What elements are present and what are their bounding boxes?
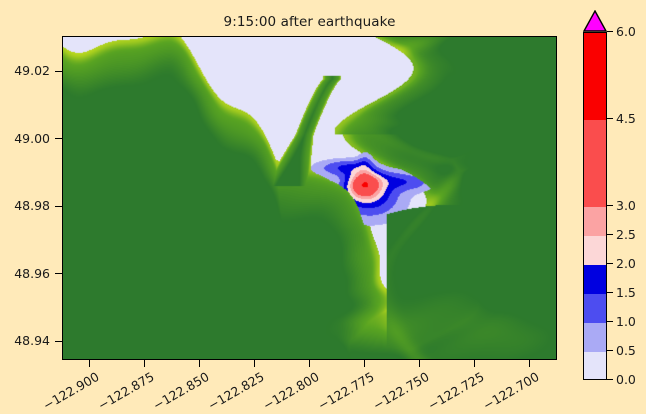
- colorbar-band: [584, 323, 606, 352]
- colorbar-over-arrow-icon: [583, 10, 607, 32]
- colorbar: [583, 10, 607, 380]
- x-tick-label: −122.875: [95, 369, 156, 413]
- colorbar-tick-label: 0.5: [616, 343, 636, 358]
- colorbar-band: [584, 236, 606, 265]
- colorbar-tick-label: 3.0: [616, 198, 636, 213]
- colorbar-tick-label: 1.5: [616, 285, 636, 300]
- x-tick-label: −122.825: [205, 369, 266, 413]
- colorbar-tick-label: 2.0: [616, 256, 636, 271]
- x-tick-mark: [199, 360, 200, 367]
- colorbar-tick-mark: [607, 263, 613, 264]
- x-tick-label: −122.700: [480, 369, 541, 413]
- x-tick-mark: [89, 360, 90, 367]
- y-tick-label: 48.96: [14, 266, 50, 281]
- x-tick-label: −122.850: [150, 369, 211, 413]
- x-tick-mark: [529, 360, 530, 367]
- colorbar-tick-mark: [607, 379, 613, 380]
- x-tick-label: −122.900: [40, 369, 101, 413]
- colorbar-tick-mark: [607, 234, 613, 235]
- colorbar-tick-mark: [607, 205, 613, 206]
- inundation-heatmap: [63, 37, 556, 359]
- colorbar-bands: [583, 32, 607, 380]
- matplotlib-figure: 9:15:00 after earthquake 49.0249.0048.98…: [0, 0, 646, 414]
- colorbar-tick-label: 0.0: [616, 372, 636, 387]
- colorbar-tick-label: 1.0: [616, 314, 636, 329]
- x-tick-mark: [364, 360, 365, 367]
- y-tick-mark: [55, 341, 62, 342]
- y-tick-label: 48.98: [14, 198, 50, 213]
- colorbar-tick-mark: [607, 350, 613, 351]
- colorbar-band: [584, 294, 606, 323]
- colorbar-tick-mark: [607, 321, 613, 322]
- colorbar-band: [584, 265, 606, 294]
- y-tick-mark: [55, 138, 62, 139]
- colorbar-band: [584, 120, 606, 207]
- colorbar-band: [584, 352, 606, 380]
- page-title: 9:15:00 after earthquake: [62, 14, 557, 30]
- colorbar-band: [584, 33, 606, 120]
- colorbar-tick-label: 6.0: [616, 24, 636, 39]
- x-tick-label: −122.775: [315, 369, 376, 413]
- y-tick-label: 49.00: [14, 131, 50, 146]
- colorbar-tick-mark: [607, 118, 613, 119]
- x-tick-mark: [144, 360, 145, 367]
- x-tick-mark: [474, 360, 475, 367]
- map-axes: [62, 36, 557, 360]
- colorbar-tick-mark: [607, 292, 613, 293]
- x-tick-mark: [309, 360, 310, 367]
- x-tick-mark: [254, 360, 255, 367]
- y-tick-label: 49.02: [14, 63, 50, 78]
- y-tick-mark: [55, 71, 62, 72]
- y-tick-mark: [55, 273, 62, 274]
- colorbar-tick-label: 4.5: [616, 111, 636, 126]
- x-tick-label: −122.800: [260, 369, 321, 413]
- colorbar-tick-mark: [607, 31, 613, 32]
- x-tick-mark: [419, 360, 420, 367]
- y-tick-mark: [55, 206, 62, 207]
- colorbar-band: [584, 207, 606, 236]
- x-tick-label: −122.750: [370, 369, 431, 413]
- x-tick-label: −122.725: [425, 369, 486, 413]
- colorbar-tick-label: 2.5: [616, 227, 636, 242]
- y-tick-label: 48.94: [14, 333, 50, 348]
